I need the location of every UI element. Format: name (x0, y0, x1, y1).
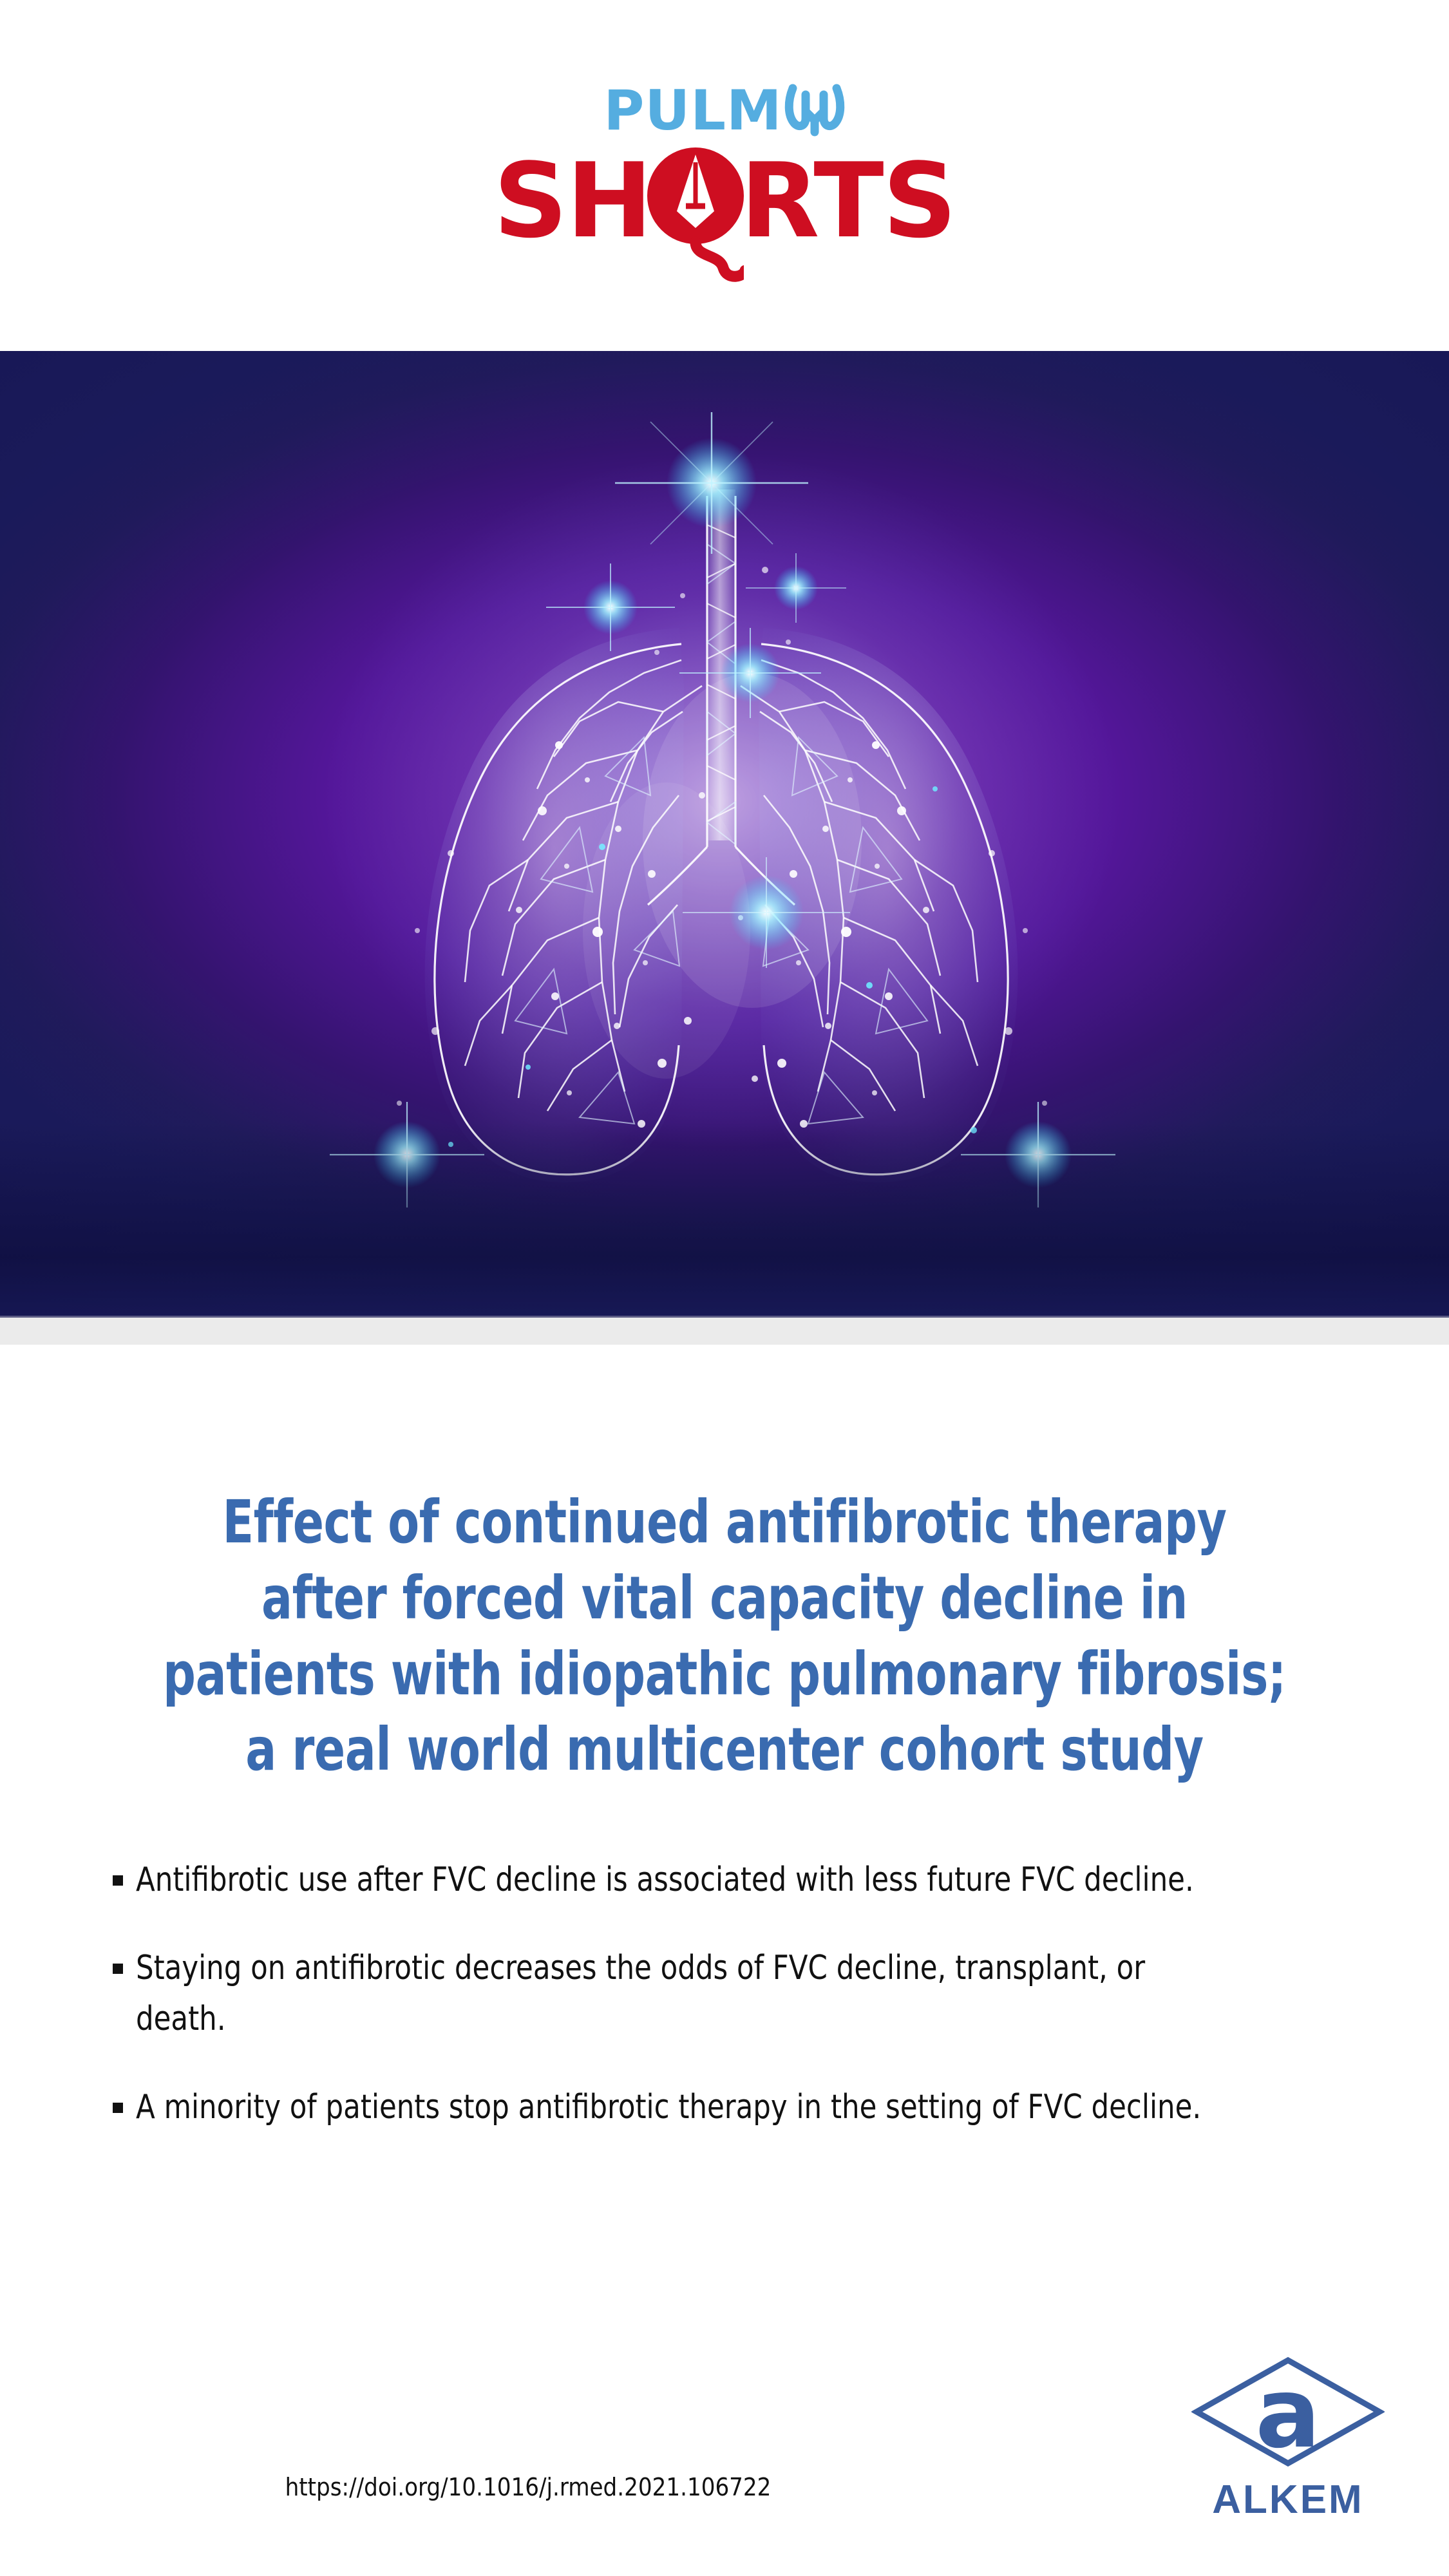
logo-shorts-pre: SH (493, 149, 651, 252)
hero-divider-band (0, 1316, 1449, 1345)
infographic-page: PULM SH (0, 0, 1449, 2576)
article-title: Effect of continued antifibrotic therapy… (102, 1484, 1348, 1788)
logo-shorts-row: SH RTS (493, 143, 956, 259)
highlights-list: Antifibrotic use after FVC decline is as… (113, 1855, 1336, 2170)
title-line-3: patients with idiopathic pulmonary fibro… (102, 1636, 1348, 1712)
logo-pulmo-text: PULM (603, 86, 782, 136)
svg-text:a: a (1255, 2358, 1320, 2470)
bullet-text: Staying on antifibrotic decreases the od… (136, 1943, 1214, 2045)
list-item: A minority of patients stop antifibrotic… (113, 2082, 1336, 2133)
title-line-2: after forced vital capacity decline in (102, 1560, 1348, 1636)
bullet-square-icon (113, 1875, 123, 1886)
bullet-square-icon (113, 1964, 123, 1974)
alkem-diamond-icon: a (1191, 2354, 1385, 2473)
bullet-square-icon (113, 2103, 123, 2113)
list-item: Antifibrotic use after FVC decline is as… (113, 1855, 1336, 1906)
list-item: Staying on antifibrotic decreases the od… (113, 1943, 1336, 2045)
doi-link[interactable]: https://doi.org/10.1016/j.rmed.2021.1067… (0, 2473, 1056, 2501)
title-line-4: a real world multicenter cohort study (102, 1712, 1348, 1788)
bullet-text: A minority of patients stop antifibrotic… (136, 2082, 1201, 2133)
logo-pulmo-row: PULM (603, 84, 845, 139)
bullet-text: Antifibrotic use after FVC decline is as… (136, 1855, 1194, 1906)
hero-floor-shadow (0, 1122, 1449, 1316)
pen-nib-icon (647, 149, 744, 252)
sponsor-logo-alkem: a ALKEM (1182, 2354, 1394, 2523)
title-line-1: Effect of continued antifibrotic therapy (102, 1484, 1348, 1560)
alkem-wordmark: ALKEM (1212, 2477, 1363, 2523)
brand-logo: PULM SH (0, 0, 1449, 351)
lung-icon (784, 82, 846, 142)
logo-shorts-post: RTS (740, 149, 955, 252)
hero-lungs-image (0, 351, 1449, 1316)
